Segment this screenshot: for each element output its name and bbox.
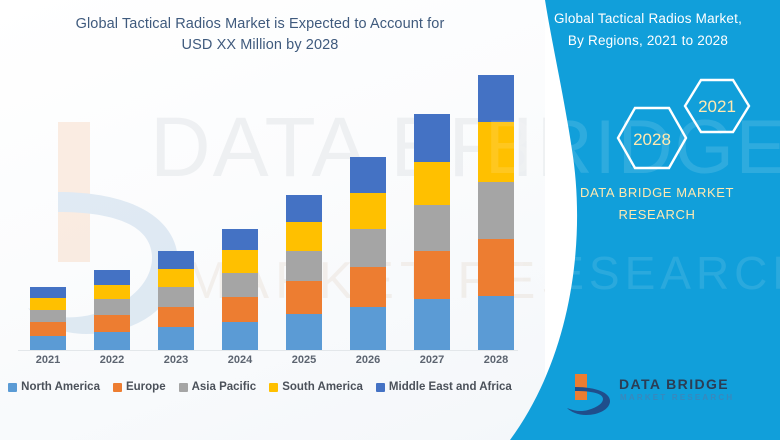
bar-segment-europe [222, 297, 258, 322]
x-axis-tick-2024: 2024 [210, 354, 270, 366]
legend-swatch-icon [113, 383, 122, 392]
page-title-line2: USD XX Million by 2028 [0, 35, 520, 56]
logo-subtitle: MARKET RESEARCH [620, 393, 734, 402]
bar-segment-asia-pacific [350, 229, 386, 266]
bar-group-2028[interactable] [478, 60, 514, 350]
x-axis-tick-2023: 2023 [146, 354, 206, 366]
bar-segment-north-america [414, 299, 450, 350]
legend-swatch-icon [269, 383, 278, 392]
x-axis-tick-2025: 2025 [274, 354, 334, 366]
bar-segment-asia-pacific [94, 299, 130, 315]
plot-area [0, 60, 520, 352]
bar-segment-middle-east-and-africa [222, 229, 258, 250]
stacked-bar[interactable] [286, 195, 322, 350]
right-watermark-secondary: RESEARCH [515, 250, 780, 296]
chart-legend: North AmericaEuropeAsia PacificSouth Ame… [0, 378, 520, 396]
bar-segment-north-america [158, 327, 194, 350]
legend-label: Europe [126, 381, 166, 393]
bar-segment-europe [30, 322, 66, 335]
bar-group-2025[interactable] [286, 60, 322, 350]
bar-group-2027[interactable] [414, 60, 450, 350]
bar-segment-middle-east-and-africa [94, 270, 130, 285]
stacked-bar[interactable] [350, 157, 386, 350]
legend-item[interactable]: Asia Pacific [179, 381, 257, 393]
bar-segment-north-america [350, 307, 386, 351]
bar-segment-south-america [414, 162, 450, 206]
bar-segment-south-america [286, 222, 322, 251]
hexagon-svg: 2021 2028 [573, 72, 773, 172]
page-title: Global Tactical Radios Market is Expecte… [0, 14, 520, 56]
bar-group-2023[interactable] [158, 60, 194, 350]
legend-label: South America [282, 381, 363, 393]
bar-segment-asia-pacific [222, 273, 258, 297]
bar-segment-middle-east-and-africa [350, 157, 386, 193]
data-bridge-logo[interactable]: DATA BRIDGE MARKET RESEARCH [567, 372, 773, 418]
bar-segment-north-america [286, 314, 322, 350]
right-panel-title-line1: Global Tactical Radios Market, [522, 8, 774, 30]
legend-swatch-icon [8, 383, 17, 392]
brand-name: DATA BRIDGE MARKET RESEARCH [537, 182, 777, 226]
x-axis-labels: 20212022202320242025202620272028 [0, 354, 520, 374]
bar-segment-europe [478, 239, 514, 296]
hexagon-2028-label: 2028 [633, 130, 671, 149]
right-panel: BRIDGE RESEARCH Global Tactical Radios M… [545, 0, 780, 440]
bar-segment-north-america [30, 336, 66, 351]
x-axis-tick-2021: 2021 [18, 354, 78, 366]
bar-segment-south-america [350, 193, 386, 229]
x-axis-tick-2022: 2022 [82, 354, 142, 366]
bar-segment-middle-east-and-africa [158, 251, 194, 269]
bar-segment-asia-pacific [158, 287, 194, 306]
infographic-root: DATA BRIDGE MARKET RESEARCH Global Tacti… [0, 0, 780, 440]
brand-name-line1: DATA BRIDGE MARKET [537, 182, 777, 204]
stacked-bar[interactable] [222, 229, 258, 350]
bar-segment-middle-east-and-africa [478, 75, 514, 122]
hexagon-group: 2021 2028 [573, 72, 773, 172]
bar-segment-europe [414, 251, 450, 299]
stacked-bar[interactable] [94, 270, 130, 350]
legend-item[interactable]: North America [8, 381, 100, 393]
bar-segment-middle-east-and-africa [414, 114, 450, 161]
right-panel-title: Global Tactical Radios Market, By Region… [522, 8, 774, 52]
x-axis-tick-2028: 2028 [466, 354, 526, 366]
bar-segment-south-america [158, 269, 194, 287]
brand-name-line2: RESEARCH [537, 204, 777, 226]
bar-segment-south-america [222, 250, 258, 273]
stacked-bar[interactable] [414, 114, 450, 350]
bar-segment-north-america [478, 296, 514, 350]
stacked-bar[interactable] [158, 251, 194, 350]
bar-group-2024[interactable] [222, 60, 258, 350]
x-axis-tick-2026: 2026 [338, 354, 398, 366]
right-panel-title-line2: By Regions, 2021 to 2028 [522, 30, 774, 52]
logo-title: DATA BRIDGE [619, 376, 729, 392]
bar-segment-europe [94, 315, 130, 332]
bars-container [0, 60, 520, 350]
bar-segment-asia-pacific [30, 310, 66, 322]
bar-segment-south-america [30, 298, 66, 310]
bar-segment-asia-pacific [286, 251, 322, 281]
bar-segment-europe [286, 281, 322, 314]
data-bridge-b-mark-icon [567, 372, 613, 416]
bar-segment-south-america [94, 285, 130, 300]
x-axis-tick-2027: 2027 [402, 354, 462, 366]
legend-label: Middle East and Africa [389, 381, 512, 393]
bar-group-2026[interactable] [350, 60, 386, 350]
bar-segment-middle-east-and-africa [286, 195, 322, 222]
hexagon-2021-label: 2021 [698, 97, 736, 116]
bar-segment-europe [158, 307, 194, 328]
legend-item[interactable]: Middle East and Africa [376, 381, 512, 393]
chart-panel: DATA BRIDGE MARKET RESEARCH Global Tacti… [0, 0, 545, 440]
legend-label: North America [21, 381, 100, 393]
x-axis-line [18, 350, 518, 351]
stacked-bar[interactable] [478, 75, 514, 350]
bar-group-2022[interactable] [94, 60, 130, 350]
legend-swatch-icon [179, 383, 188, 392]
bar-segment-europe [350, 267, 386, 307]
bar-segment-south-america [478, 122, 514, 182]
bar-group-2021[interactable] [30, 60, 66, 350]
legend-label: Asia Pacific [192, 381, 257, 393]
bar-segment-asia-pacific [478, 182, 514, 239]
page-title-line1: Global Tactical Radios Market is Expecte… [0, 14, 520, 35]
legend-swatch-icon [376, 383, 385, 392]
stacked-bar[interactable] [30, 287, 66, 350]
bar-segment-north-america [94, 332, 130, 350]
legend-item[interactable]: Europe [113, 381, 166, 393]
legend-item[interactable]: South America [269, 381, 363, 393]
bar-segment-asia-pacific [414, 205, 450, 251]
bar-segment-north-america [222, 322, 258, 350]
bar-segment-middle-east-and-africa [30, 287, 66, 298]
